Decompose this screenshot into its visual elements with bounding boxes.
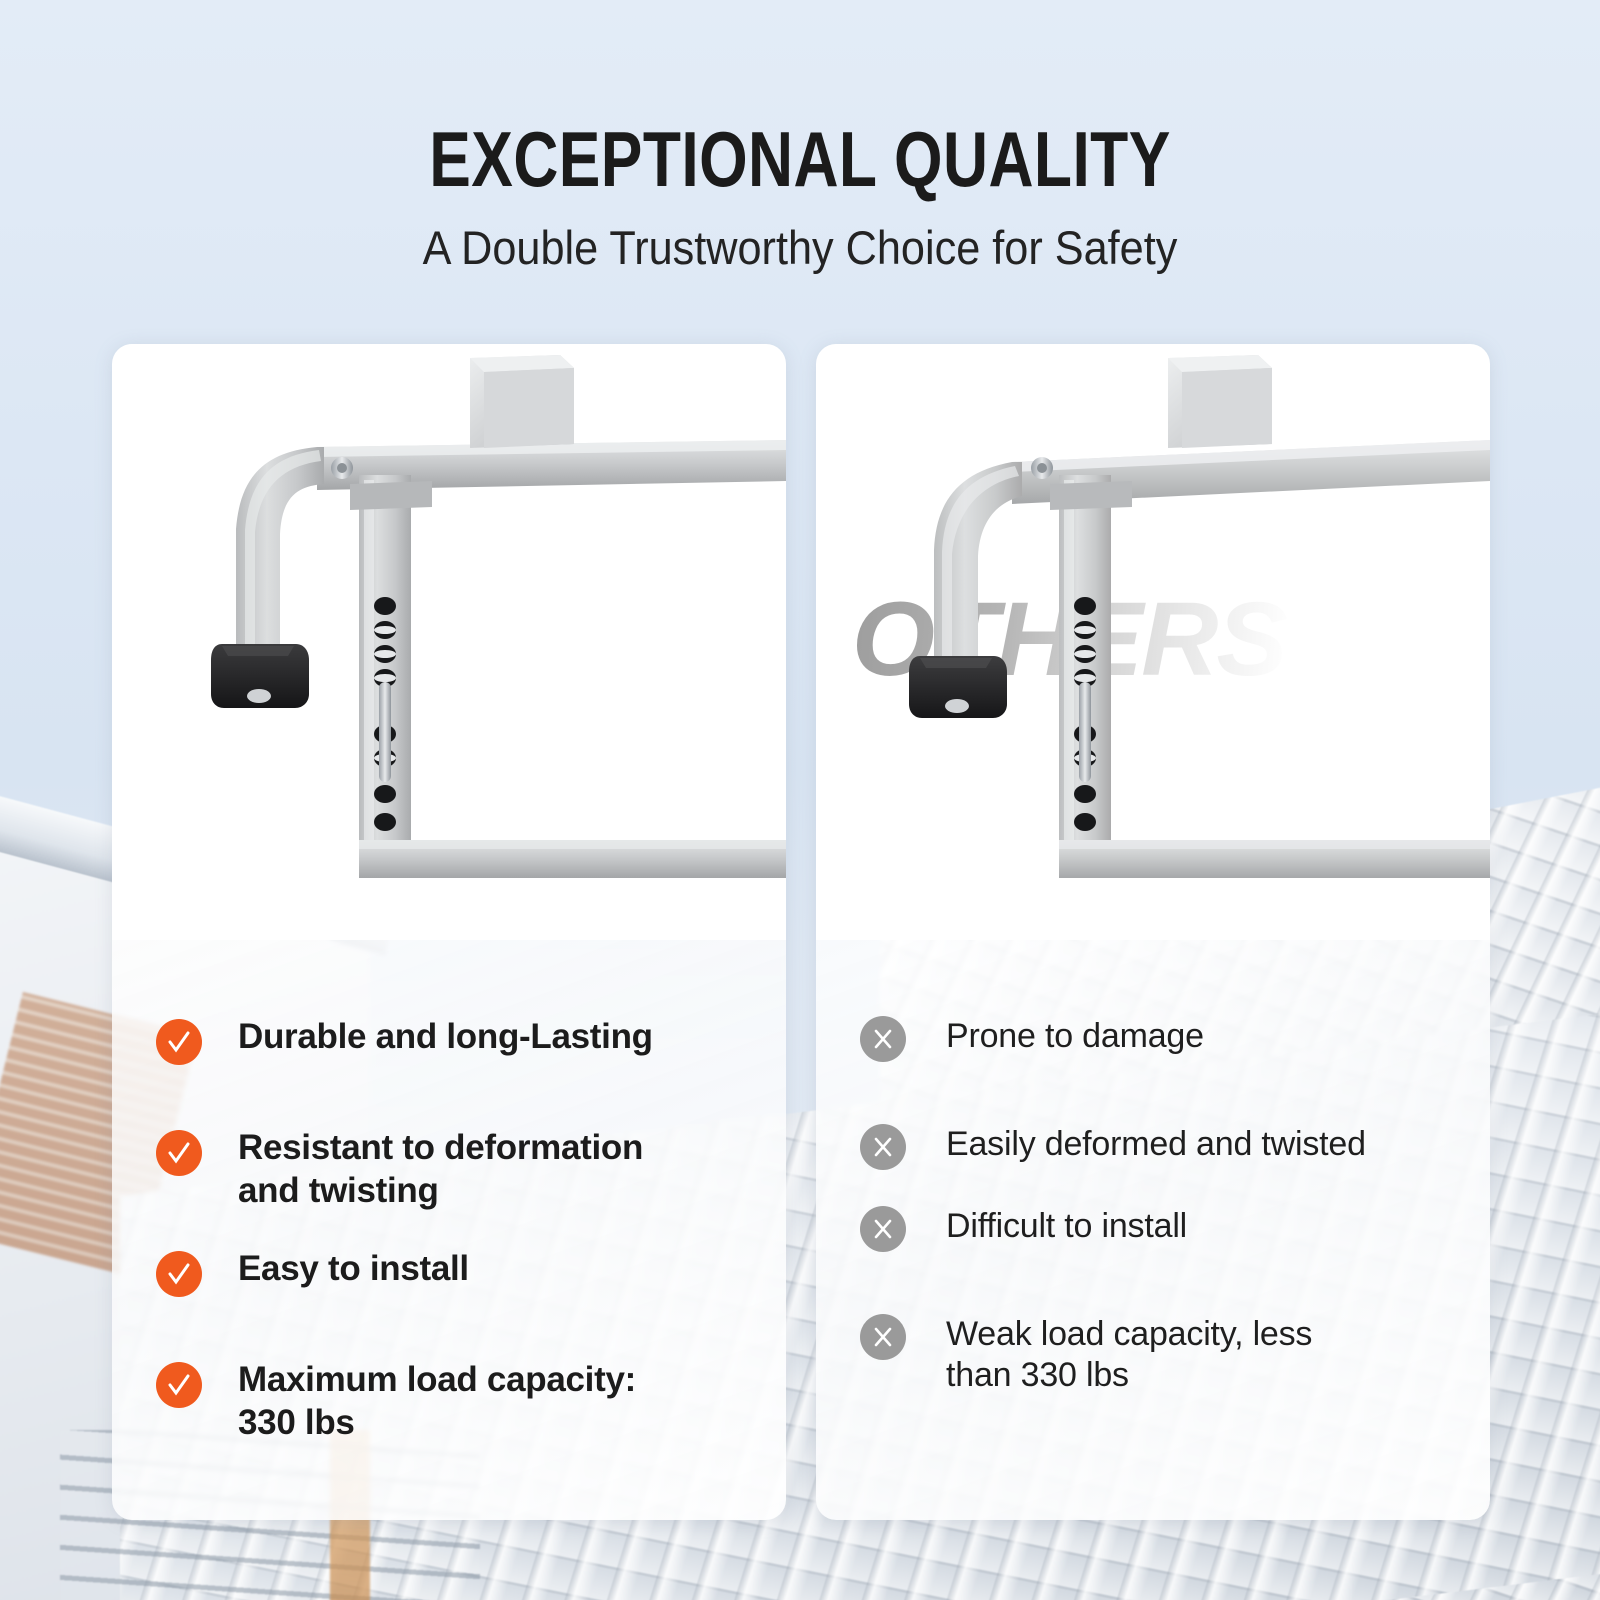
page-subtitle: A Double Trustworthy Choice for Safety bbox=[64, 222, 1536, 274]
ours-feature-list: Durable and long-Lasting Resistant to de… bbox=[112, 940, 786, 1520]
feature-label: Weak load capacity, less than 330 lbs bbox=[946, 1314, 1312, 1397]
ours-card: OURS bbox=[112, 344, 786, 1520]
feature-label-line2: and twisting bbox=[238, 1171, 439, 1210]
feature-label: Easy to install bbox=[238, 1248, 469, 1291]
check-icon bbox=[156, 1362, 202, 1408]
ours-product-photo: OURS bbox=[112, 344, 786, 940]
others-card: OTHERS bbox=[816, 344, 1490, 1520]
others-feature-list: Prone to damage Easily deformed and twis… bbox=[816, 940, 1490, 1520]
roof-bracket-illustration bbox=[816, 344, 1490, 940]
feature-label-line1: Maximum load capacity: bbox=[238, 1360, 636, 1399]
check-icon bbox=[156, 1019, 202, 1065]
feature-item: Difficult to install bbox=[860, 1206, 1450, 1252]
x-icon bbox=[860, 1206, 906, 1252]
feature-item: Easily deformed and twisted bbox=[860, 1124, 1450, 1170]
feature-label: Maximum load capacity: 330 lbs bbox=[238, 1359, 636, 1444]
feature-label: Easily deformed and twisted bbox=[946, 1124, 1366, 1165]
others-product-photo: OTHERS bbox=[816, 344, 1490, 940]
check-icon bbox=[156, 1251, 202, 1297]
check-icon bbox=[156, 1130, 202, 1176]
x-icon bbox=[860, 1124, 906, 1170]
feature-label: Prone to damage bbox=[946, 1016, 1204, 1057]
feature-item: Maximum load capacity: 330 lbs bbox=[156, 1359, 746, 1444]
feature-label-line1: Weak load capacity, less bbox=[946, 1315, 1312, 1353]
feature-label: Resistant to deformation and twisting bbox=[238, 1127, 643, 1212]
feature-label-line2: than 330 lbs bbox=[946, 1356, 1129, 1394]
roof-bracket-illustration bbox=[112, 344, 786, 940]
comparison-cards: OURS bbox=[112, 344, 1490, 1520]
x-icon bbox=[860, 1314, 906, 1360]
header: EXCEPTIONAL QUALITY A Double Trustworthy… bbox=[0, 0, 1600, 274]
feature-item: Easy to install bbox=[156, 1248, 746, 1297]
x-icon bbox=[860, 1016, 906, 1062]
feature-item: Prone to damage bbox=[860, 1016, 1450, 1062]
feature-label-line1: Resistant to deformation bbox=[238, 1128, 643, 1167]
feature-label: Difficult to install bbox=[946, 1206, 1187, 1247]
feature-label-line2: 330 lbs bbox=[238, 1403, 355, 1442]
feature-item: Durable and long-Lasting bbox=[156, 1016, 746, 1065]
feature-item: Weak load capacity, less than 330 lbs bbox=[860, 1314, 1450, 1397]
page-title: EXCEPTIONAL QUALITY bbox=[160, 120, 1440, 198]
feature-item: Resistant to deformation and twisting bbox=[156, 1127, 746, 1212]
feature-label: Durable and long-Lasting bbox=[238, 1016, 653, 1059]
